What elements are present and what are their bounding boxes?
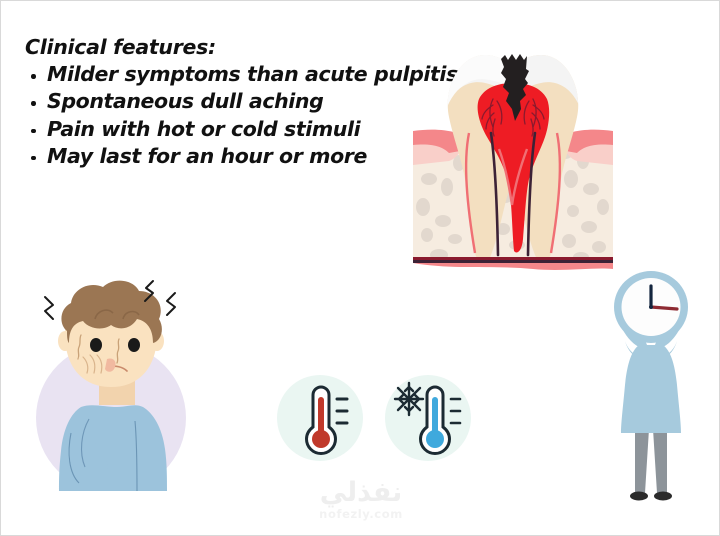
boy-with-toothache-illustration	[23, 273, 209, 491]
cold-stimulus-icon	[383, 373, 473, 463]
list-item: Spontaneous dull aching	[25, 88, 425, 115]
watermark-domain-text: nofezly.com	[1, 507, 720, 521]
list-item: Pain with hot or cold stimuli	[25, 116, 425, 143]
eye-left	[90, 338, 102, 352]
snowflake-icon	[395, 383, 423, 415]
minute-hand	[651, 307, 677, 309]
body	[621, 345, 681, 433]
clock	[614, 271, 688, 343]
person-holding-clock-illustration	[595, 267, 707, 509]
list-item: May last for an hour or more	[25, 143, 425, 170]
hot-stimulus-icon	[277, 375, 363, 461]
bone-base-lines	[413, 257, 613, 271]
eye-right	[128, 338, 140, 352]
tooth-cross-section-illustration	[413, 29, 613, 271]
clinical-features-heading: Clinical features:	[25, 35, 425, 59]
clinical-features-text-block: Clinical features: Milder symptoms than …	[25, 35, 425, 170]
clinical-features-list: Milder symptoms than acute pulpitis Spon…	[25, 61, 425, 170]
shoes	[630, 492, 672, 501]
slide-canvas: Clinical features: Milder symptoms than …	[0, 0, 720, 536]
legs	[635, 429, 667, 493]
list-item: Milder symptoms than acute pulpitis	[25, 61, 425, 88]
